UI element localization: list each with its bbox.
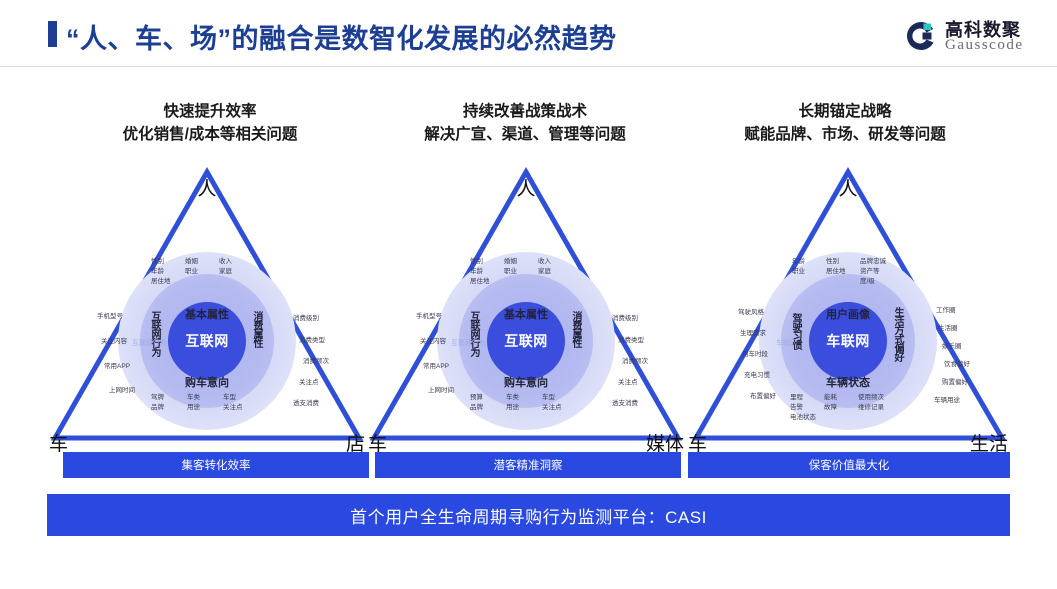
attr-row: 品牌用途关注点 [470,403,586,413]
attr-row: 年龄职业家庭 [470,267,580,277]
heading-line-1: 长期锚定战略 [690,100,1000,123]
outcome-bar-2[interactable]: 潜客精准洞察 [375,452,681,478]
attr-row: 告警故障维修记录 [790,403,912,413]
left-attr-3: 常用APP [423,362,449,372]
column-heading-2: 持续改善战策战术 解决广宣、渠道、管理等问题 [375,100,675,146]
ring-label-left: 互联网行为 [147,311,162,356]
watermark-text: 互联网行为 [451,338,486,348]
watermark-text: 车联网 [776,338,797,348]
ring-label-top: 基本属性 [366,306,686,322]
attr-row: 居住地 [151,277,261,287]
left-attr-3: 用车时段 [742,350,768,360]
right-attr-2: 消费类型 [618,336,644,346]
logo-text-en: Gausscode [945,37,1023,54]
triangle-panel-1: 人 车 店 互联网 基本属性 购车意向 互联网行为 消费属性 互联网行为 性别婚… [47,160,367,460]
heading-line-2: 赋能品牌、市场、研发等问题 [690,123,1000,146]
column-heading-1: 快速提升效率 优化销售/成本等相关问题 [60,100,360,146]
left-attr-3: 常用APP [104,362,130,372]
left-attr-4: 充电习惯 [744,371,770,381]
ring-label-left: 互联网行为 [466,311,481,356]
left-attr-2: 关注内容 [420,337,446,347]
top-attribute-grid: 年龄性别品牌忠诚 职业居住地资产等 度/级 [792,257,908,287]
attr-row: 度/级 [792,277,908,287]
ring-label-right: 消费属性 [568,311,583,347]
outcome-bar-1[interactable]: 集客转化效率 [63,452,369,478]
bottom-attribute-grid: 里程能耗使用频次 告警故障维修记录 电池状态 [790,393,912,423]
page-header: “人、车、场”的融合是数智化发展的必然趋势 高科数聚 Gausscode [0,0,1057,67]
core-label: 互联网 [504,331,548,351]
left-attr-4: 上网时间 [109,386,135,396]
heading-line-1: 持续改善战策战术 [375,100,675,123]
ring-label-top: 用户画像 [686,306,1010,322]
header-divider [0,66,1057,67]
ring-label-bottom: 购车意向 [366,374,686,390]
attr-row: 电池状态 [790,413,912,423]
left-attr-1: 手机型号 [97,312,123,322]
left-attr-5: 布置偏好 [750,392,776,402]
triangle-panel-3: 人 车 生活 车联网 用户画像 车辆状态 驾驶习惯 生活方式偏好 车联网 年龄性… [686,160,1010,460]
bottom-attribute-grid: 驾牌车类车型 品牌用途关注点 [151,393,267,413]
left-attr-1: 手机型号 [416,312,442,322]
left-attr-1: 驾驶风格 [738,308,764,318]
top-attribute-grid: 性别婚姻收入 年龄职业家庭 居住地 [470,257,580,287]
ring-label-top: 基本属性 [47,306,367,322]
page-title: “人、车、场”的融合是数智化发展的必然趋势 [66,17,617,56]
brand-logo: 高科数聚 Gausscode [905,18,1050,56]
triangle-panel-2: 人 车 媒体 互联网 基本属性 购车意向 互联网行为 消费属性 互联网行为 性别… [366,160,686,460]
right-attr-2: 消费类型 [299,336,325,346]
right-attr-3: 消费频次 [622,357,648,367]
left-attr-2: 关注内容 [101,337,127,347]
core-label: 互联网 [185,331,229,351]
heading-line-2: 解决广宣、渠道、管理等问题 [375,123,675,146]
outcome-bar-3[interactable]: 保客价值最大化 [688,452,1010,478]
attr-row: 里程能耗使用频次 [790,393,912,403]
watermark-text: 互联网行为 [132,338,167,348]
right-attr-4: 饮食偏好 [944,360,970,370]
left-attr-4: 上网时间 [428,386,454,396]
platform-banner[interactable]: 首个用户全生命周期寻购行为监测平台：CASI [47,494,1010,536]
left-attr-2: 生理需求 [740,329,766,339]
corner-label-apex: 人 [838,174,857,201]
bottom-attribute-grid: 预算车类车型 品牌用途关注点 [470,393,586,413]
ring-label-bottom: 购车意向 [47,374,367,390]
right-attr-2: 生活圈 [938,324,958,334]
ring-label-right: 生活方式偏好 [890,307,905,361]
right-attr-4: 关注点 [618,378,638,388]
column-heading-3: 长期锚定战略 赋能品牌、市场、研发等问题 [690,100,1000,146]
corner-label-apex: 人 [516,174,535,201]
right-attr-3: 消费频次 [303,357,329,367]
heading-line-2: 优化销售/成本等相关问题 [60,123,360,146]
core-label: 车联网 [826,331,870,351]
heading-line-1: 快速提升效率 [60,100,360,123]
right-attr-5: 购置偏好 [942,378,968,388]
attr-row: 预算车类车型 [470,393,586,403]
right-attr-1: 消费级别 [612,314,638,324]
right-attr-4: 关注点 [299,378,319,388]
attr-row: 职业居住地资产等 [792,267,908,277]
attr-row: 性别婚姻收入 [151,257,261,267]
attr-row: 性别婚姻收入 [470,257,580,267]
right-attr-5: 透支消费 [612,399,638,409]
attr-row: 品牌用途关注点 [151,403,267,413]
right-attr-5: 透支消费 [293,399,319,409]
right-attr-1: 消费级别 [293,314,319,324]
corner-label-apex: 人 [197,174,216,201]
right-attr-3: 娱乐圈 [942,342,962,352]
ring-label-right: 消费属性 [249,311,264,347]
right-attr-1: 工作圈 [936,306,956,316]
attr-row: 年龄职业家庭 [151,267,261,277]
attr-row: 驾牌车类车型 [151,393,267,403]
right-attr-6: 车辆用途 [934,396,960,406]
attr-row: 年龄性别品牌忠诚 [792,257,908,267]
top-attribute-grid: 性别婚姻收入 年龄职业家庭 居住地 [151,257,261,287]
gausscode-logo-icon [905,20,937,52]
title-accent-bar [48,21,57,47]
attr-row: 居住地 [470,277,580,287]
